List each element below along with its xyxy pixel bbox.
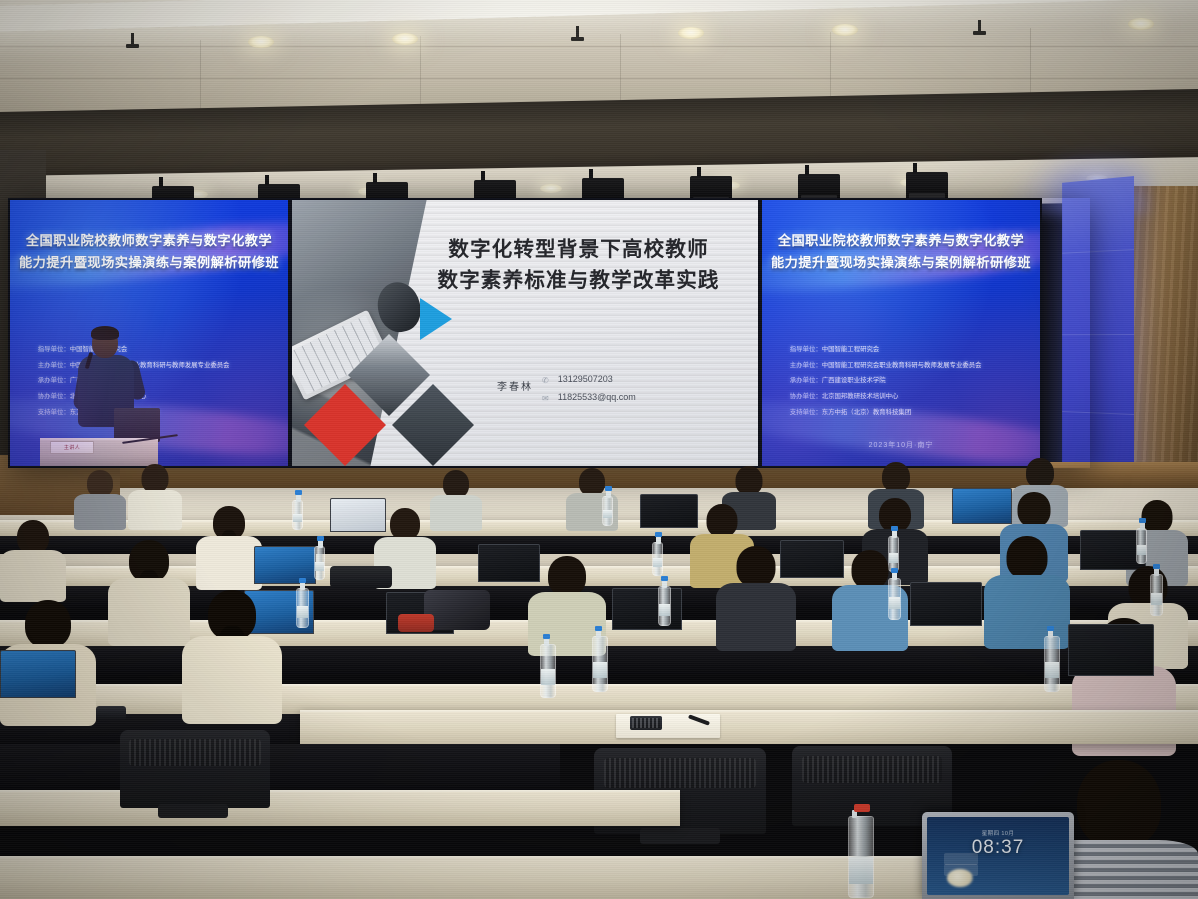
speaker-name: 李春林 [497,372,533,397]
attendee [0,520,66,600]
chair-base [158,804,228,818]
phone-icon: ✆ [542,374,549,388]
attendee [430,470,482,528]
organizer-row: 主办单位：中国智能工程研究会职业教育科研与教师发展专业委员会 [790,358,1035,374]
smartphone [96,706,126,720]
ceiling-downlight [678,27,704,39]
aisle-shadow [0,744,560,792]
slide-title-line-1: 数字化转型背景下高校教师 [422,234,734,265]
laptop-date: 星期四 10月 [982,829,1014,837]
desk-row-5 [300,710,1198,744]
lecture-hall-photo: 全国职业院校教师数字素养与数字化教学 能力提升暨现场实操演练与案例解析研修班 指… [0,0,1198,899]
water-bottle [314,546,325,580]
water-bottle [592,636,608,692]
attendee [128,464,182,528]
water-bottle [888,578,901,620]
speaker-email: 11825533@qq.com [558,390,636,406]
banner-line-1: 全国职业院校教师数字素养与数字化教学 [770,230,1032,252]
attendee [182,590,282,722]
attendee [716,546,796,650]
red-folder [398,614,434,632]
water-bottle [296,588,309,628]
contact-values: 13129507203 11825533@qq.com [558,372,636,406]
ceiling-sprinkler-icon [576,26,579,39]
moon-icon [947,869,973,887]
attendee [74,470,126,528]
laptop-lock-screen[interactable]: 星期四 10月 08:37 [927,817,1069,895]
banner-line-1: 全国职业院校教师数字素养与数字化教学 [18,230,280,252]
ceiling-sprinkler-icon [978,20,981,33]
office-chair [120,730,270,808]
water-bottle [652,542,663,576]
calculator [630,716,662,730]
led-screen-wall: 全国职业院校教师数字素养与数字化教学 能力提升暨现场实操演练与案例解析研修班 指… [8,198,1090,468]
cyan-triangle-icon [420,298,452,340]
contact-icons: ✆ ✉ [542,372,549,406]
organizer-row: 协办单位：北京国邦教研技术培训中心 [790,389,1035,405]
banner-line-2: 能力提升暨现场实操演练与案例解析研修班 [770,252,1032,274]
desk-row-7 [0,856,960,899]
water-bottle [1044,636,1060,692]
organizer-row: 支持单位：东方中拓（北京）教育科技集团 [790,405,1035,421]
speaker-phone: 13129507203 [558,372,636,388]
soffit-downlight [540,184,562,193]
water-bottle [848,816,874,898]
center-led-panel: 数字化转型背景下高校教师 数字素养标准与教学改革实践 李春林 ✆ ✉ 13129… [290,198,760,468]
attendee [108,540,190,644]
right-panel-banner: 全国职业院校教师数字素养与数字化教学 能力提升暨现场实操演练与案例解析研修班 [762,230,1040,274]
slide-contact-block: 李春林 ✆ ✉ 13129507203 11825533@qq.com [497,372,636,406]
banner-line-2: 能力提升暨现场实操演练与案例解析研修班 [18,252,280,274]
water-bottle [292,500,303,530]
right-led-panel: 全国职业院校教师数字素养与数字化教学 能力提升暨现场实操演练与案例解析研修班 指… [760,198,1042,468]
ceiling-light-strip [0,0,1198,32]
right-panel-organizer-list: 指导单位：中国智能工程研究会 主办单位：中国智能工程研究会职业教育科研与教师发展… [790,342,1035,420]
chair-base [640,828,720,844]
ceiling-downlight [1128,18,1154,30]
water-bottle [540,644,556,698]
laptop-clock: 08:37 [972,837,1025,859]
water-bottle [1150,574,1163,616]
desk-row-6 [0,790,680,826]
foreground-laptop[interactable]: 星期四 10月 08:37 [922,812,1074,899]
laptop-bag [330,566,392,588]
water-bottle [658,586,671,626]
ceiling-downlight [248,36,274,48]
left-panel-banner: 全国职业院校教师数字素养与数字化教学 能力提升暨现场实操演练与案例解析研修班 [10,230,288,274]
slide-title-line-2: 数字素养标准与教学改革实践 [422,265,734,296]
event-date-line: 2023年10月·南宁 [762,440,1040,450]
water-bottle [1136,528,1147,564]
podium-nameplate: 主讲人 [50,441,94,454]
attendee [196,506,262,588]
slide-title: 数字化转型背景下高校教师 数字素养标准与教学改革实践 [422,234,734,296]
email-icon: ✉ [542,392,549,406]
attendee [984,536,1070,648]
organizer-row: 指导单位：中国智能工程研究会 [790,342,1035,358]
organizer-row: 承办单位：广西建设职业技术学院 [790,373,1035,389]
ceiling-downlight [832,24,858,36]
ceiling-sprinkler-icon [131,33,134,46]
left-led-panel: 全国职业院校教师数字素养与数字化教学 能力提升暨现场实操演练与案例解析研修班 指… [8,198,290,468]
water-bottle [602,496,613,526]
ceiling-downlight [392,33,418,45]
